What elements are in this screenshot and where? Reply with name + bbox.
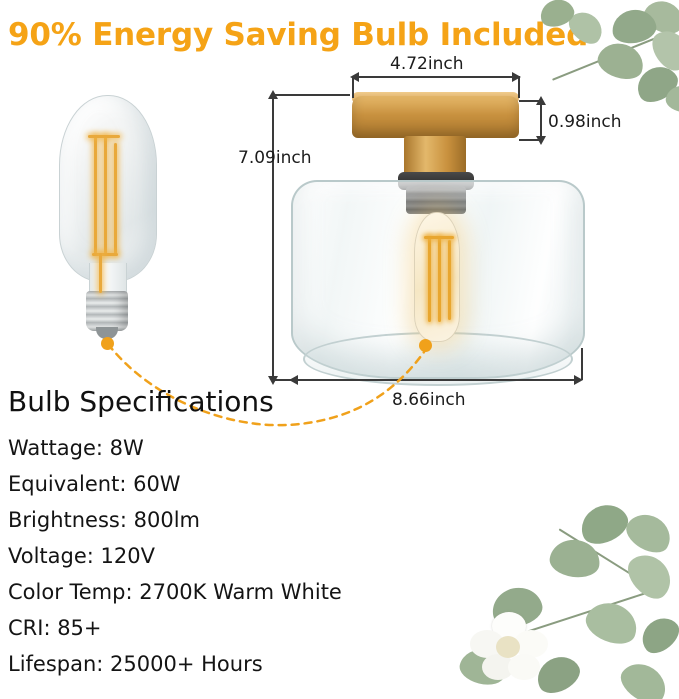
filament	[88, 135, 120, 138]
filament	[428, 236, 431, 322]
eucalyptus-top-right	[540, 0, 679, 120]
leaf	[621, 507, 678, 559]
arrow-down	[268, 376, 278, 385]
filament	[92, 253, 118, 256]
list-item: Voltage: 120V	[8, 538, 468, 574]
product-infographic: 90% Energy Saving Bulb Included	[0, 0, 679, 699]
list-item: Color Temp: 2700K Warm White	[8, 574, 468, 610]
leaf	[615, 655, 674, 699]
dimension-label-shade-width: 8.66inch	[392, 390, 465, 410]
extension-line	[272, 94, 350, 96]
pointer-dot-target	[419, 339, 432, 352]
arrow-down	[536, 136, 546, 145]
dimension-line-canopy-width	[352, 76, 519, 78]
filament	[104, 135, 107, 255]
extension-line	[352, 76, 354, 98]
filament-lead	[99, 253, 102, 293]
spec-title: Bulb Specifications	[8, 385, 274, 418]
extension-line	[581, 348, 583, 380]
edison-bulb-illustration	[52, 95, 162, 340]
dimension-line-canopy-height	[540, 100, 542, 140]
arrow-left	[289, 375, 298, 385]
dimension-label-total-height: 7.09inch	[238, 148, 311, 168]
leaf	[635, 611, 679, 660]
pointer-dot-source	[101, 337, 114, 350]
extension-line	[518, 76, 520, 98]
extension-line	[519, 100, 541, 102]
leaf	[581, 596, 643, 651]
arrow-right	[512, 72, 521, 82]
list-item: Equivalent: 60W	[8, 466, 468, 502]
filament	[448, 240, 451, 320]
filament	[94, 135, 97, 255]
filament	[424, 236, 454, 239]
list-item: Wattage: 8W	[8, 430, 468, 466]
extension-line	[519, 139, 541, 141]
dimension-label-canopy-height: 0.98inch	[548, 112, 621, 132]
list-item: Lifespan: 25000+ Hours	[8, 646, 468, 682]
dimension-label-canopy-width: 4.72inch	[390, 54, 463, 74]
filament	[438, 236, 441, 322]
bulb-screw-base	[86, 291, 128, 331]
installed-bulb	[414, 212, 460, 342]
spec-list: Wattage: 8W Equivalent: 60W Brightness: …	[8, 430, 468, 682]
filament	[114, 143, 117, 255]
list-item: Brightness: 800lm	[8, 502, 468, 538]
dimension-line-shade-width	[291, 379, 581, 381]
brass-canopy	[352, 96, 519, 138]
flower	[470, 612, 548, 684]
list-item: CRI: 85+	[8, 610, 468, 646]
dimension-line-total-height	[272, 94, 274, 380]
